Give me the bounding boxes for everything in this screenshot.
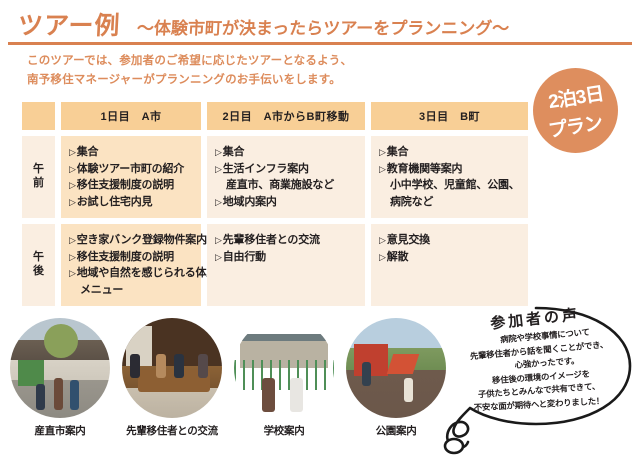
list-item: ▷移住支援制度の説明 [69, 249, 195, 266]
photo-caption: 学校案内 [232, 423, 336, 438]
page-header: ツアー例 ～体験市町が決まったらツアーをプランニング～ [0, 0, 640, 46]
list-item: ▷意見交換 [379, 232, 522, 249]
list-item-label: 生活インフラ案内 [223, 163, 309, 175]
list-item-label: 地域や自然を感じられる体験 [77, 267, 217, 279]
schedule-header-row: 1日目 A市 2日目 A市からB町移動 3日目 B町 [22, 102, 522, 130]
header-cell-day2: 2日目 A市からB町移動 [207, 102, 365, 130]
cell-morning-day2: ▷集合 ▷生活インフラ案内 産直市、商業施設など ▷地域内案内 [207, 136, 365, 218]
intro-line-2: 南予移住マネージャーがプランニングのお手伝いをします。 [27, 71, 447, 90]
list-item: ▷自由行動 [215, 249, 359, 266]
list-item: ▷体験ツアー市町の紹介 [69, 161, 195, 178]
list-subitem: 病院など [379, 194, 522, 211]
cell-morning-day1: ▷集合 ▷体験ツアー市町の紹介 ▷移住支援制度の説明 ▷お試し住宅内見 [61, 136, 201, 218]
photo-image-market [10, 318, 110, 418]
person-shape [262, 378, 275, 412]
list-item: ▷空き家バンク登録物件案内 [69, 232, 195, 249]
list-item-label: 集合 [387, 146, 409, 158]
plan-badge: 2泊3日 プラン [533, 68, 618, 153]
photo-image-school [234, 318, 334, 418]
page-title: ツアー例 [17, 6, 121, 42]
cell-morning-day3: ▷集合 ▷教育機関等案内 小中学校、児童館、公園、 病院など [371, 136, 528, 218]
page-subtitle: ～体験市町が決まったらツアーをプランニング～ [136, 14, 510, 39]
list-item-label: 意見交換 [387, 234, 430, 246]
triangle-icon: ▷ [69, 180, 76, 190]
intro-line-1: このツアーでは、参加者のご希望に応じたツアーとなるよう、 [27, 52, 447, 71]
triangle-icon: ▷ [69, 252, 76, 262]
person-shape [290, 378, 303, 412]
triangle-icon: ▷ [215, 235, 222, 245]
cell-afternoon-day1: ▷空き家バンク登録物件案内 ▷移住支援制度の説明 ▷地域や自然を感じられる体験 … [61, 224, 201, 306]
testimonial-bubble: 参加者の声 病院や学校事情について 先輩移住者から話を聞くことができ、 心強かっ… [432, 300, 640, 459]
header-cell-blank [22, 102, 55, 130]
photo-caption: 先輩移住者との交流 [120, 423, 224, 438]
triangle-icon: ▷ [69, 235, 76, 245]
row-label-afternoon-char-2: 後 [33, 265, 44, 279]
cell-afternoon-day3: ▷意見交換 ▷解散 [371, 224, 528, 306]
row-label-morning-char-1: 午 [33, 163, 44, 177]
person-shape [404, 378, 413, 402]
photo-item-market: 産直市案内 [8, 318, 112, 438]
list-subitem: メニュー [69, 282, 195, 299]
row-label-afternoon: 午 後 [22, 224, 55, 306]
schedule-row-afternoon: 午 後 ▷空き家バンク登録物件案内 ▷移住支援制度の説明 ▷地域や自然を感じられ… [22, 224, 522, 306]
tree-shape [44, 324, 78, 358]
fence-shape [234, 360, 334, 390]
row-label-morning: 午 前 [22, 136, 55, 218]
photo-item-exchange: 先輩移住者との交流 [120, 318, 224, 438]
list-item: ▷地域や自然を感じられる体験 [69, 265, 195, 282]
triangle-icon: ▷ [69, 164, 76, 174]
list-item-label: 集合 [77, 146, 99, 158]
person-shape [156, 354, 166, 378]
person-shape [174, 354, 184, 378]
person-shape [54, 378, 63, 410]
list-item-label: 移住支援制度の説明 [77, 179, 174, 191]
row-label-afternoon-char-1: 午 [33, 251, 44, 265]
list-item: ▷先輩移住者との交流 [215, 232, 359, 249]
list-item-label: 地域内案内 [223, 196, 277, 208]
triangle-icon: ▷ [379, 147, 386, 157]
triangle-icon: ▷ [215, 164, 222, 174]
cell-afternoon-day2: ▷先輩移住者との交流 ▷自由行動 [207, 224, 365, 306]
triangle-icon: ▷ [69, 268, 76, 278]
person-shape [130, 354, 140, 378]
list-item-label: 解散 [387, 251, 409, 263]
person-shape [362, 362, 371, 386]
intro-text: このツアーでは、参加者のご希望に応じたツアーとなるよう、 南予移住マネージャーが… [27, 52, 447, 90]
list-item-label: 空き家バンク登録物件案内 [77, 234, 207, 246]
triangle-icon: ▷ [69, 147, 76, 157]
list-item: ▷地域内案内 [215, 194, 359, 211]
triangle-icon: ▷ [379, 235, 386, 245]
list-item: ▷移住支援制度の説明 [69, 177, 195, 194]
list-item-label: 移住支援制度の説明 [77, 251, 174, 263]
list-item-label: お試し住宅内見 [77, 196, 153, 208]
schedule-table: 1日目 A市 2日目 A市からB町移動 3日目 B町 午 前 ▷集合 ▷体験ツア… [22, 102, 522, 306]
header-cell-day1: 1日目 A市 [61, 102, 201, 130]
list-item: ▷生活インフラ案内 [215, 161, 359, 178]
list-item-label: 教育機関等案内 [387, 163, 463, 175]
list-item-label: 先輩移住者との交流 [223, 234, 320, 246]
photo-image-park [346, 318, 446, 418]
list-item-label: 集合 [223, 146, 245, 158]
photo-item-school: 学校案内 [232, 318, 336, 438]
triangle-icon: ▷ [215, 252, 222, 262]
title-divider [8, 42, 632, 45]
list-item: ▷集合 [379, 144, 522, 161]
schedule-row-morning: 午 前 ▷集合 ▷体験ツアー市町の紹介 ▷移住支援制度の説明 ▷お試し住宅内見 … [22, 136, 522, 218]
roof-shape [238, 334, 330, 341]
playground-shape [354, 344, 388, 376]
triangle-icon: ▷ [215, 197, 222, 207]
list-item: ▷集合 [215, 144, 359, 161]
list-item-label: 体験ツアー市町の紹介 [77, 163, 184, 175]
person-shape [36, 384, 45, 410]
list-subitem: 産直市、商業施設など [215, 177, 359, 194]
photo-image-exchange [122, 318, 222, 418]
slide-shape [387, 354, 419, 374]
triangle-icon: ▷ [379, 252, 386, 262]
list-item-label: 自由行動 [223, 251, 266, 263]
row-label-morning-char-2: 前 [33, 177, 44, 191]
list-item: ▷教育機関等案内 [379, 161, 522, 178]
list-item: ▷お試し住宅内見 [69, 194, 195, 211]
testimonial-body: 病院や学校事情について 先輩移住者から話を聞くことができ、 心強かったです。 移… [452, 330, 630, 412]
list-subitem: 小中学校、児童館、公園、 [379, 177, 522, 194]
list-item: ▷集合 [69, 144, 195, 161]
list-item: ▷解散 [379, 249, 522, 266]
triangle-icon: ▷ [379, 164, 386, 174]
triangle-icon: ▷ [215, 147, 222, 157]
banner-shape [18, 360, 44, 386]
person-shape [70, 380, 79, 410]
person-shape [198, 354, 208, 378]
triangle-icon: ▷ [69, 197, 76, 207]
header-cell-day3: 3日目 B町 [371, 102, 528, 130]
photo-caption: 産直市案内 [8, 423, 112, 438]
